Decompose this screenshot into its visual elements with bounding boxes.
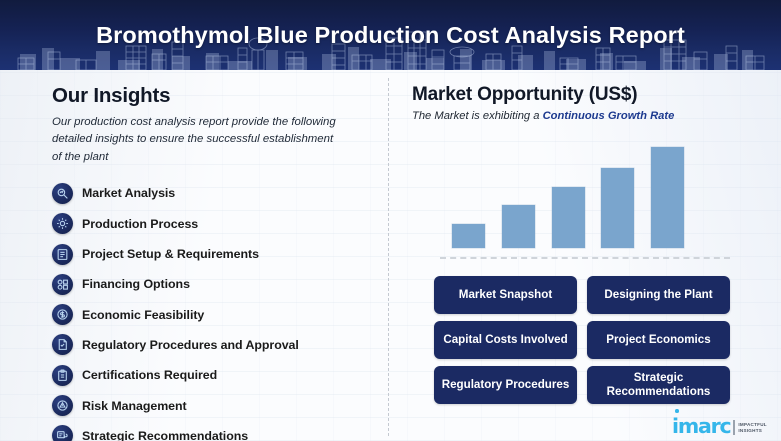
strategic-recommendations-icon xyxy=(52,425,73,441)
subtitle-accent: Continuous Growth Rate xyxy=(543,110,675,122)
page-title: Bromothymol Blue Production Cost Analysi… xyxy=(0,0,781,70)
header-banner: Bromothymol Blue Production Cost Analysi… xyxy=(0,0,781,70)
market-growth-bar-chart xyxy=(452,132,732,262)
logo-tagline-line2: INSIGHTS xyxy=(738,428,766,434)
economic-feasibility-icon xyxy=(52,304,73,325)
list-item-label: Risk Management xyxy=(82,399,187,413)
insights-description: Our production cost analysis report prov… xyxy=(52,114,344,166)
list-item[interactable]: Risk Management xyxy=(52,395,382,416)
logo-divider xyxy=(733,420,734,435)
list-item[interactable]: Economic Feasibility xyxy=(52,304,382,325)
list-item-label: Financing Options xyxy=(82,277,190,291)
logo-text: imarc xyxy=(672,414,730,438)
list-item-label: Market Analysis xyxy=(82,186,175,200)
list-item[interactable]: Production Process xyxy=(52,213,382,234)
certifications-icon xyxy=(52,365,73,386)
logo-wordmark: imarc xyxy=(672,416,730,437)
logo-tagline: IMPACTFUL INSIGHTS xyxy=(738,422,766,434)
list-item[interactable]: Project Setup & Requirements xyxy=(52,244,382,265)
slide-canvas: Bromothymol Blue Production Cost Analysi… xyxy=(0,0,781,441)
list-item[interactable]: Certifications Required xyxy=(52,365,382,386)
button-project-economics[interactable]: Project Economics xyxy=(587,321,730,359)
market-opportunity-panel: Market Opportunity (US$) The Market is e… xyxy=(412,84,762,122)
financing-options-icon xyxy=(52,274,73,295)
subtitle-plain: The Market is exhibiting a xyxy=(412,110,543,122)
chart-bar xyxy=(601,168,634,248)
list-item-label: Project Setup & Requirements xyxy=(82,247,259,261)
list-item[interactable]: Financing Options xyxy=(52,274,382,295)
list-item-label: Strategic Recommendations xyxy=(82,429,248,441)
imarc-logo[interactable]: imarc IMPACTFUL INSIGHTS xyxy=(672,406,776,436)
risk-management-icon xyxy=(52,395,73,416)
list-item-label: Regulatory Procedures and Approval xyxy=(82,338,299,352)
button-designing-the-plant[interactable]: Designing the Plant xyxy=(587,276,730,314)
button-market-snapshot[interactable]: Market Snapshot xyxy=(434,276,577,314)
button-capital-costs-involved[interactable]: Capital Costs Involved xyxy=(434,321,577,359)
list-item-label: Economic Feasibility xyxy=(82,308,204,322)
insights-title: Our Insights xyxy=(52,84,382,108)
production-process-icon xyxy=(52,213,73,234)
column-divider xyxy=(388,78,389,436)
chart-bar xyxy=(552,187,585,248)
list-item[interactable]: Regulatory Procedures and Approval xyxy=(52,334,382,355)
button-strategic-recommendations[interactable]: Strategic Recommendations xyxy=(587,366,730,404)
market-analysis-icon xyxy=(52,183,73,204)
list-item[interactable]: Strategic Recommendations xyxy=(52,425,382,441)
insights-panel: Our Insights Our production cost analysi… xyxy=(52,84,382,441)
chart-bar xyxy=(452,224,485,248)
chart-bar xyxy=(651,147,684,248)
chart-bar xyxy=(502,205,535,248)
insights-list: Market Analysis Production Process xyxy=(52,183,382,441)
report-sections-grid: Market Snapshot Designing the Plant Capi… xyxy=(434,276,730,404)
regulatory-procedures-icon xyxy=(52,334,73,355)
market-opportunity-title: Market Opportunity (US$) xyxy=(412,84,762,106)
logo-dot-icon xyxy=(675,409,679,413)
list-item-label: Certifications Required xyxy=(82,368,217,382)
project-setup-icon xyxy=(52,244,73,265)
chart-plot-area xyxy=(452,132,684,248)
market-opportunity-subtitle: The Market is exhibiting a Continuous Gr… xyxy=(412,110,762,122)
list-item-label: Production Process xyxy=(82,217,198,231)
list-item[interactable]: Market Analysis xyxy=(52,183,382,204)
button-regulatory-procedures[interactable]: Regulatory Procedures xyxy=(434,366,577,404)
